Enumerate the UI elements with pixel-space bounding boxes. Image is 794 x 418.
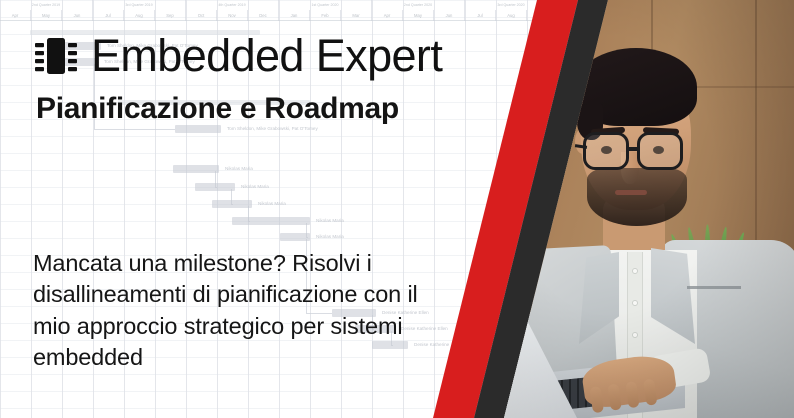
gantt-month-row: AprMayJunJulAugSepOctNovDecJanFebMarAprM… (0, 10, 560, 21)
gantt-timeline-header: 2nd Quarter 20193rd Quarter 20194th Quar… (0, 0, 560, 21)
gantt-task-label: Nikolas Maria (241, 183, 269, 191)
gantt-task-label: Nikolas Maria (316, 233, 344, 241)
brand-title-row: Embedded Expert (33, 33, 442, 78)
gantt-task-bar (232, 217, 310, 225)
gantt-month-cell: Apr (372, 10, 403, 21)
gantt-task-label: Nikolas Maria (316, 217, 344, 225)
gantt-quarter-cell: 3rd Quarter 2019 (93, 0, 186, 10)
gantt-month-cell: Jun (62, 10, 93, 21)
gantt-quarter-cell: 1st Quarter 2020 (279, 0, 372, 10)
gantt-month-cell: Feb (310, 10, 341, 21)
gantt-quarter-cell: 2nd Quarter 2019 (0, 0, 93, 10)
gantt-task-bar (280, 233, 310, 241)
gantt-month-cell: Apr (0, 10, 31, 21)
gantt-task-bar (195, 183, 235, 191)
page-subtitle: Pianificazione e Roadmap (36, 92, 399, 126)
gantt-month-cell: Aug (496, 10, 527, 21)
gantt-quarter-cell: 4th Quarter 2019 (186, 0, 279, 10)
gantt-month-cell: Jul (465, 10, 496, 21)
gantt-task-label: Tom Sheldon, Mike Grabowski, Pat O'Tomey (227, 125, 318, 133)
gantt-link-horizontal (94, 129, 175, 130)
gantt-quarter-row: 2nd Quarter 20193rd Quarter 20194th Quar… (0, 0, 560, 10)
gantt-month-cell: Jul (93, 10, 124, 21)
gantt-month-cell: Jan (279, 10, 310, 21)
gantt-task-label: Nikolas Maria (225, 165, 253, 173)
gantt-month-cell: May (403, 10, 434, 21)
gantt-month-cell: Nov (217, 10, 248, 21)
gantt-task-bar (175, 125, 221, 133)
page-title: Embedded Expert (91, 33, 442, 78)
gantt-quarter-cell: 2nd Quarter 2020 (372, 0, 465, 10)
gantt-month-cell: Oct (186, 10, 217, 21)
gantt-month-cell: Sep (155, 10, 186, 21)
gantt-month-cell: Aug (124, 10, 155, 21)
gantt-month-cell: Jun (434, 10, 465, 21)
gantt-task-label: Nikolas Maria (258, 200, 286, 208)
gantt-task-bar (173, 165, 219, 173)
gantt-month-cell: May (31, 10, 62, 21)
microchip-icon (33, 35, 79, 77)
banner-body-text: Mancata una milestone? Risolvi i disalli… (33, 248, 453, 373)
gantt-task-bar (212, 200, 252, 208)
gantt-month-cell: Dec (248, 10, 279, 21)
gantt-month-cell: Mar (341, 10, 372, 21)
marketing-banner: 2nd Quarter 20193rd Quarter 20194th Quar… (0, 0, 794, 418)
